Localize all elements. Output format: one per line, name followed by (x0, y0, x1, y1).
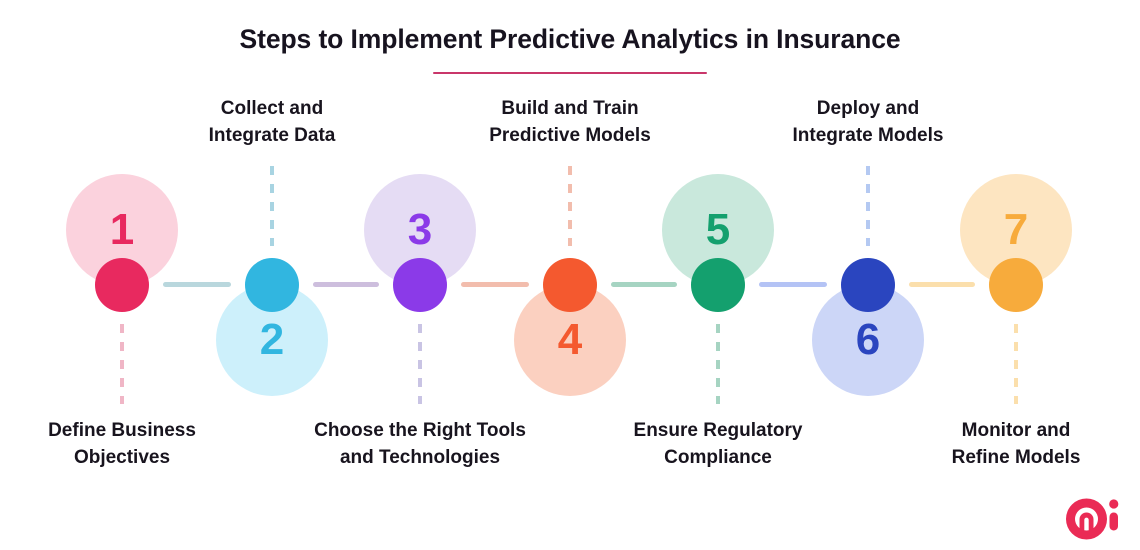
steps-timeline: 1Define Business Objectives2Collect and … (0, 0, 1140, 550)
step-leader-4 (568, 166, 572, 246)
step-leader-6 (866, 166, 870, 246)
step-marker-4[interactable] (543, 258, 597, 312)
step-marker-7[interactable] (989, 258, 1043, 312)
connector-6-to-7 (909, 282, 975, 287)
step-label-2: Collect and Integrate Data (147, 96, 397, 150)
step-leader-7 (1014, 324, 1018, 404)
step-leader-5 (716, 324, 720, 404)
step-marker-5[interactable] (691, 258, 745, 312)
step-number-3: 3 (408, 208, 432, 252)
mi-logo-mark (1066, 499, 1118, 540)
connector-2-to-3 (313, 282, 379, 287)
step-number-7: 7 (1004, 208, 1028, 252)
step-leader-3 (418, 324, 422, 404)
step-number-5: 5 (706, 208, 730, 252)
step-leader-2 (270, 166, 274, 246)
connector-5-to-6 (759, 282, 827, 287)
step-label-4: Build and Train Predictive Models (445, 96, 695, 150)
step-label-6: Deploy and Integrate Models (743, 96, 993, 150)
step-number-1: 1 (110, 208, 134, 252)
connector-4-to-5 (611, 282, 677, 287)
step-number-4: 4 (558, 318, 582, 362)
step-label-1: Define Business Objectives (0, 418, 247, 472)
infographic-canvas: Steps to Implement Predictive Analytics … (0, 0, 1140, 550)
step-label-7: Monitor and Refine Models (891, 418, 1140, 472)
step-marker-2[interactable] (245, 258, 299, 312)
step-number-6: 6 (856, 318, 880, 362)
step-label-3: Choose the Right Tools and Technologies (295, 418, 545, 472)
step-marker-1[interactable] (95, 258, 149, 312)
mi-logo (1064, 496, 1126, 542)
connector-3-to-4 (461, 282, 529, 287)
step-marker-3[interactable] (393, 258, 447, 312)
step-label-5: Ensure Regulatory Compliance (593, 418, 843, 472)
step-marker-6[interactable] (841, 258, 895, 312)
step-number-2: 2 (260, 318, 284, 362)
connector-1-to-2 (163, 282, 231, 287)
step-leader-1 (120, 324, 124, 404)
